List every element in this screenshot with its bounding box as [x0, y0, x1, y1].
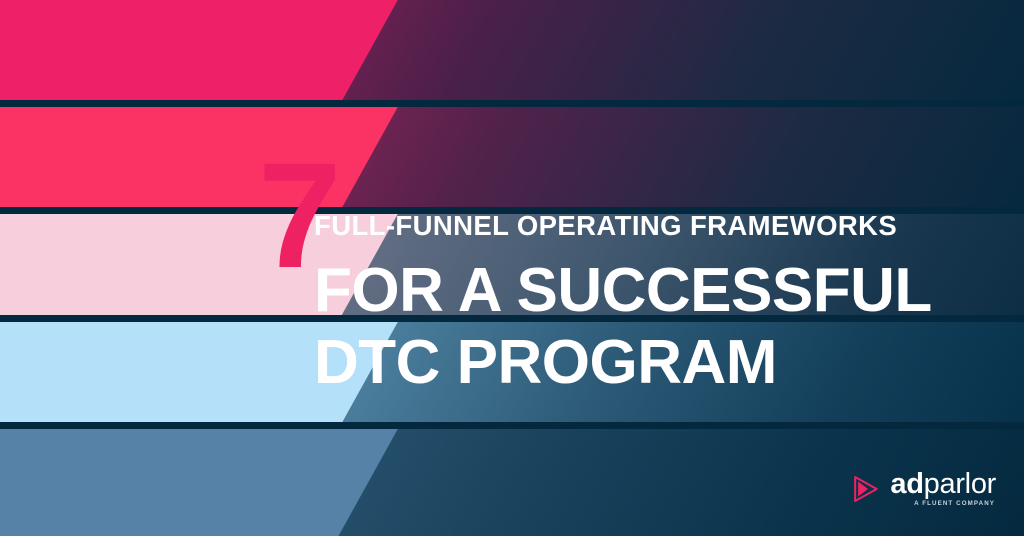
headline-line-1: FOR A SUCCESSFUL	[314, 255, 932, 327]
play-triangle-icon	[851, 474, 881, 504]
logo-tagline: A FLUENT COMPANY	[914, 500, 995, 508]
banner-subtitle: FULL-FUNNEL OPERATING FRAMEWORKS	[314, 212, 897, 240]
banner-headline: FOR A SUCCESSFUL DTC PROGRAM	[314, 255, 932, 399]
logo-word-ad: ad	[890, 468, 923, 500]
adparlor-logo: adparlor A FLUENT COMPANY	[851, 469, 996, 508]
promo-banner: 7 FULL-FUNNEL OPERATING FRAMEWORKS FOR A…	[0, 0, 1024, 536]
banner-content: 7 FULL-FUNNEL OPERATING FRAMEWORKS FOR A…	[0, 0, 1024, 536]
logo-word-parlor: parlor	[924, 468, 996, 500]
logo-wordmark: adparlor	[890, 469, 996, 499]
headline-line-2: DTC PROGRAM	[314, 327, 932, 399]
logo-text: adparlor A FLUENT COMPANY	[890, 469, 996, 508]
